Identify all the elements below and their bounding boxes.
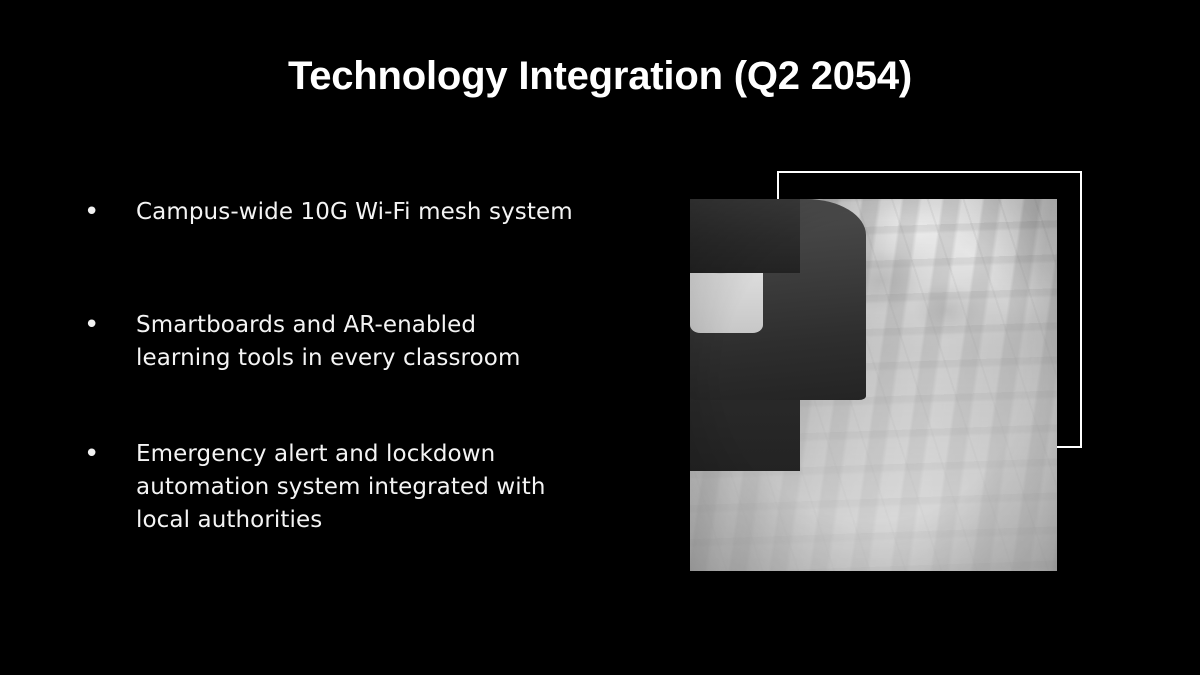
list-item: • Emergency alert and lockdown automatio… <box>78 438 638 537</box>
slide-photo <box>690 199 1057 571</box>
bullet-text: Smartboards and AR-enabled learning tool… <box>136 309 638 375</box>
photo-vignette <box>690 199 1057 571</box>
bullet-point-icon: • <box>78 196 136 229</box>
list-item: • Campus-wide 10G Wi-Fi mesh system <box>78 196 638 229</box>
bullet-list: • Campus-wide 10G Wi-Fi mesh system • Sm… <box>78 196 638 537</box>
presentation-slide: Technology Integration (Q2 2054) • Campu… <box>0 0 1200 675</box>
bullet-point-icon: • <box>78 438 136 471</box>
bullet-text: Campus-wide 10G Wi-Fi mesh system <box>136 196 638 229</box>
bullet-point-icon: • <box>78 309 136 342</box>
list-item: • Smartboards and AR-enabled learning to… <box>78 309 638 375</box>
bullet-text: Emergency alert and lockdown automation … <box>136 438 638 537</box>
page-title: Technology Integration (Q2 2054) <box>0 52 1200 100</box>
